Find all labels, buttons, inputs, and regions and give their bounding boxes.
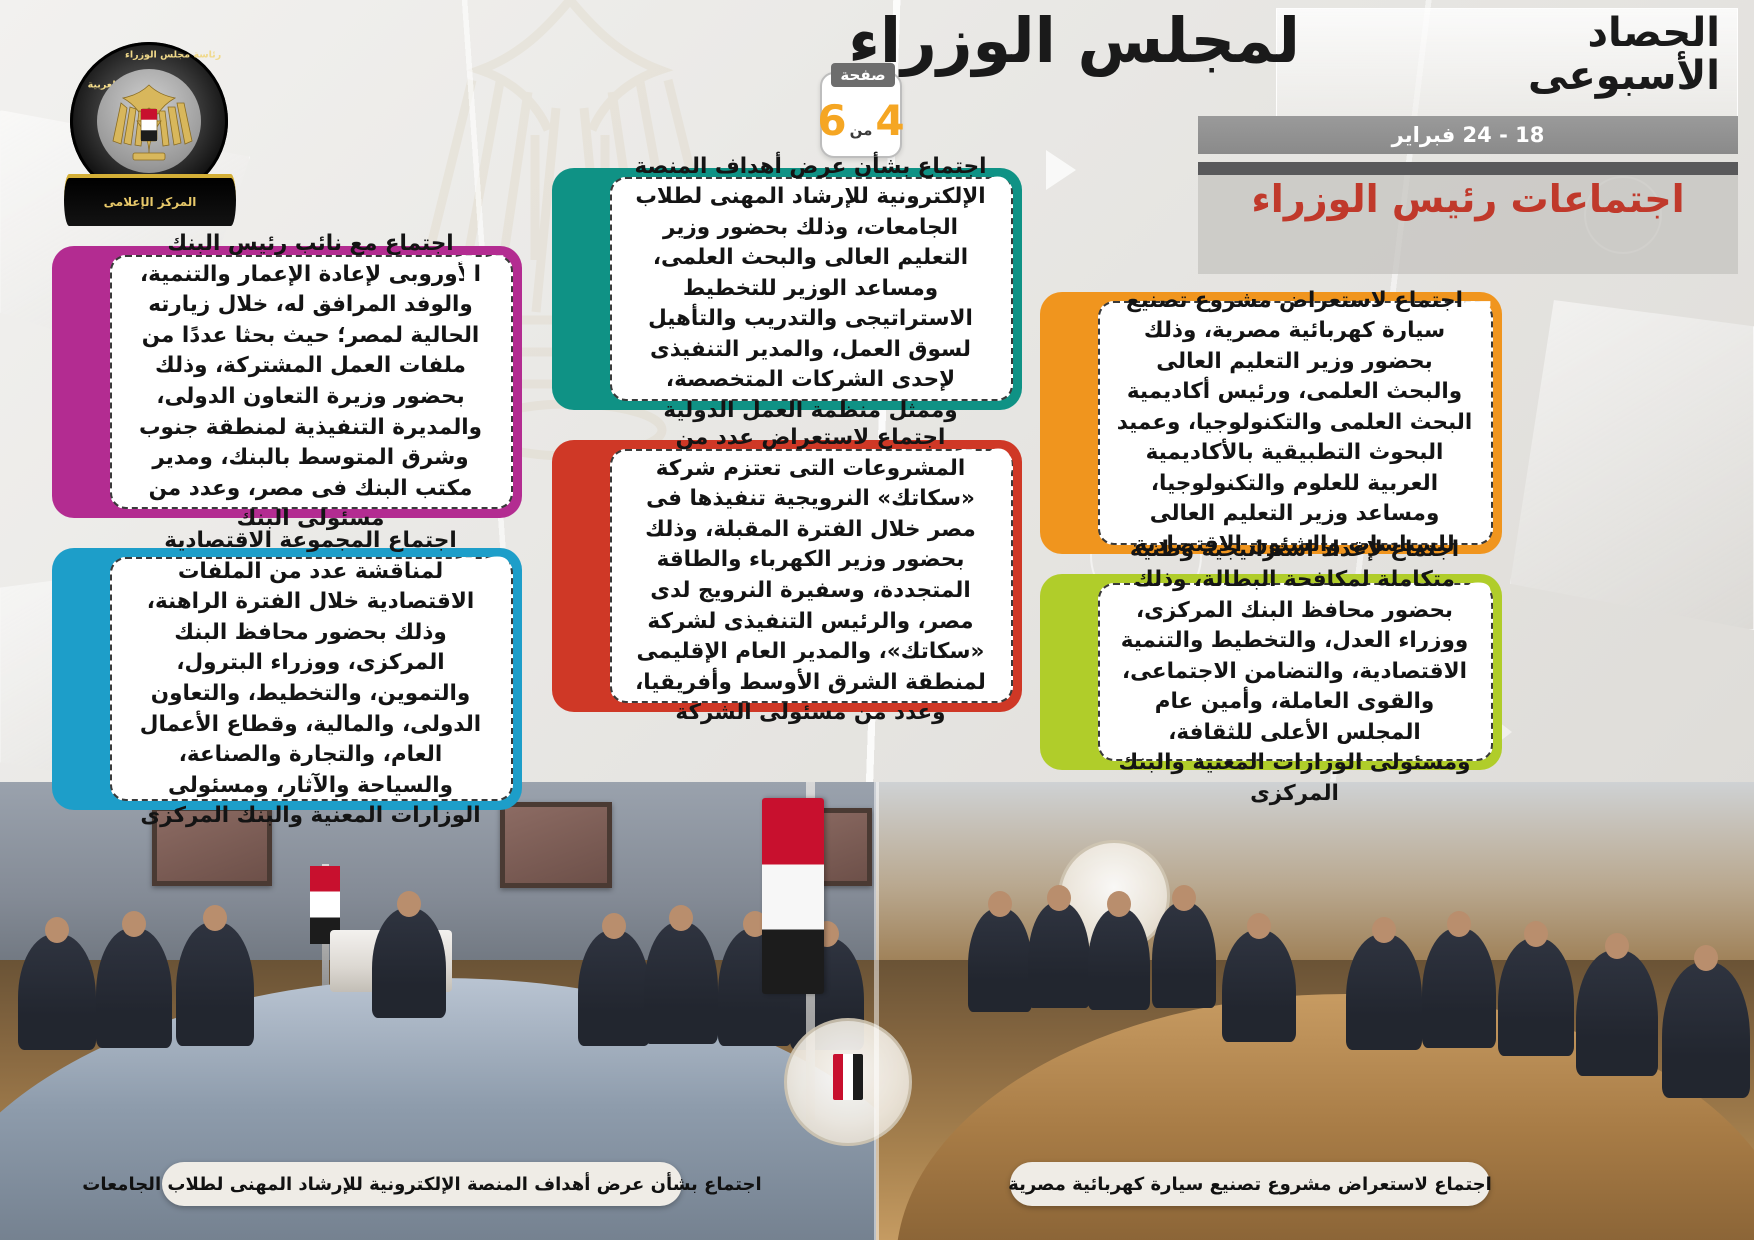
background-polygon-3 — [1510, 300, 1754, 630]
card-text-10: اجتماع لاستعراض عدد من المشروعات التى تع… — [628, 423, 993, 728]
logo-banner-label: المركز الإعلامى — [104, 195, 197, 209]
card-text-12: اجتماع المجموعة الاقتصادية لمناقشة عدد م… — [128, 526, 493, 831]
photo-caption-right-text: اجتماع لاستعراض مشروع تصنيع سيارة كهربائ… — [1008, 1174, 1492, 1195]
section-title: اجتماعات رئيس الوزراء — [1198, 178, 1738, 221]
infographic-poster: جمهورية مصر العربية رئاسة مجلس الوزراء — [0, 0, 1754, 1240]
logo-ring-bottom-label: رئاسة مجلس الوزراء — [125, 49, 221, 60]
date-range-bar: 18 - 24 فبراير — [1198, 116, 1738, 154]
egyptian-flag-center — [762, 798, 824, 994]
page-title-line2: الأسبوعى — [1290, 55, 1720, 98]
page-badge-numbers: 4 من 6 — [822, 100, 900, 142]
meeting-card-10[interactable]: 10 اجتماع لاستعراض عدد من المشروعات التى… — [552, 440, 1022, 712]
government-logo: جمهورية مصر العربية رئاسة مجلس الوزراء — [64, 42, 236, 227]
card-body-9: اجتماع بشأن عرض أهداف المنصة الإلكترونية… — [610, 177, 1013, 401]
page-title-sub: الحصاد الأسبوعى — [1290, 12, 1720, 98]
card-number-8: 8 — [1462, 578, 1493, 624]
page-badge-label: صفحة — [831, 63, 895, 87]
section-header: اجتماعات رئيس الوزراء — [1198, 162, 1738, 274]
logo-banner: المركز الإعلامى — [64, 174, 236, 226]
card-number-7: 7 — [1462, 296, 1493, 342]
meeting-card-8[interactable]: 8 اجتماع لإعداد استراتيجية وطنية متكاملة… — [1040, 574, 1502, 770]
card-number-9: 9 — [982, 172, 1013, 218]
page-badge-total: 6 — [817, 100, 846, 142]
card-body-7: اجتماع لاستعراض مشروع تصنيع سيارة كهربائ… — [1098, 301, 1493, 545]
card-body-8: اجتماع لإعداد استراتيجية وطنية متكاملة ل… — [1098, 583, 1493, 761]
page-title-line1: الحصاد — [1290, 12, 1720, 55]
logo-eagle-field — [97, 69, 201, 173]
section-header-cap — [1198, 162, 1738, 175]
page-badge-of: من — [850, 121, 873, 139]
card-text-7: اجتماع لاستعراض مشروع تصنيع سيارة كهربائ… — [1116, 286, 1473, 561]
card-number-12: 12 — [451, 552, 513, 598]
photo-caption-right: اجتماع لاستعراض مشروع تصنيع سيارة كهربائ… — [1010, 1162, 1490, 1206]
meeting-card-11[interactable]: 11 اجتماع مع نائب رئيس البنك الأوروبى لإ… — [52, 246, 522, 518]
date-range-label: 18 - 24 فبراير — [1392, 123, 1545, 147]
card-number-10: 10 — [951, 444, 1013, 490]
photo-caption-left: اجتماع بشأن عرض أهداف المنصة الإلكترونية… — [162, 1162, 682, 1206]
background-arrow-play — [1046, 150, 1076, 190]
meeting-card-7[interactable]: 7 اجتماع لاستعراض مشروع تصنيع سيارة كهرب… — [1040, 292, 1502, 554]
photo-caption-left-text: اجتماع بشأن عرض أهداف المنصة الإلكترونية… — [82, 1174, 761, 1195]
card-text-8: اجتماع لإعداد استراتيجية وطنية متكاملة ل… — [1116, 535, 1473, 810]
meeting-card-12[interactable]: 12 اجتماع المجموعة الاقتصادية لمناقشة عد… — [52, 548, 522, 810]
photo-divider — [874, 782, 879, 1240]
eagle-of-saladin-icon — [97, 69, 201, 173]
page-title-main: لمجلس الوزراء — [880, 8, 1300, 73]
meeting-card-9[interactable]: 9 اجتماع بشأن عرض أهداف المنصة الإلكترون… — [552, 168, 1022, 410]
seal-flag-mark — [833, 1054, 863, 1100]
card-number-11: 11 — [451, 250, 513, 296]
card-text-11: اجتماع مع نائب رئيس البنك الأوروبى لإعاد… — [128, 229, 493, 534]
card-text-9: اجتماع بشأن عرض أهداف المنصة الإلكترونية… — [628, 152, 993, 427]
page-number-badge: صفحة 4 من 6 — [820, 72, 902, 158]
page-badge-current: 4 — [875, 100, 904, 142]
